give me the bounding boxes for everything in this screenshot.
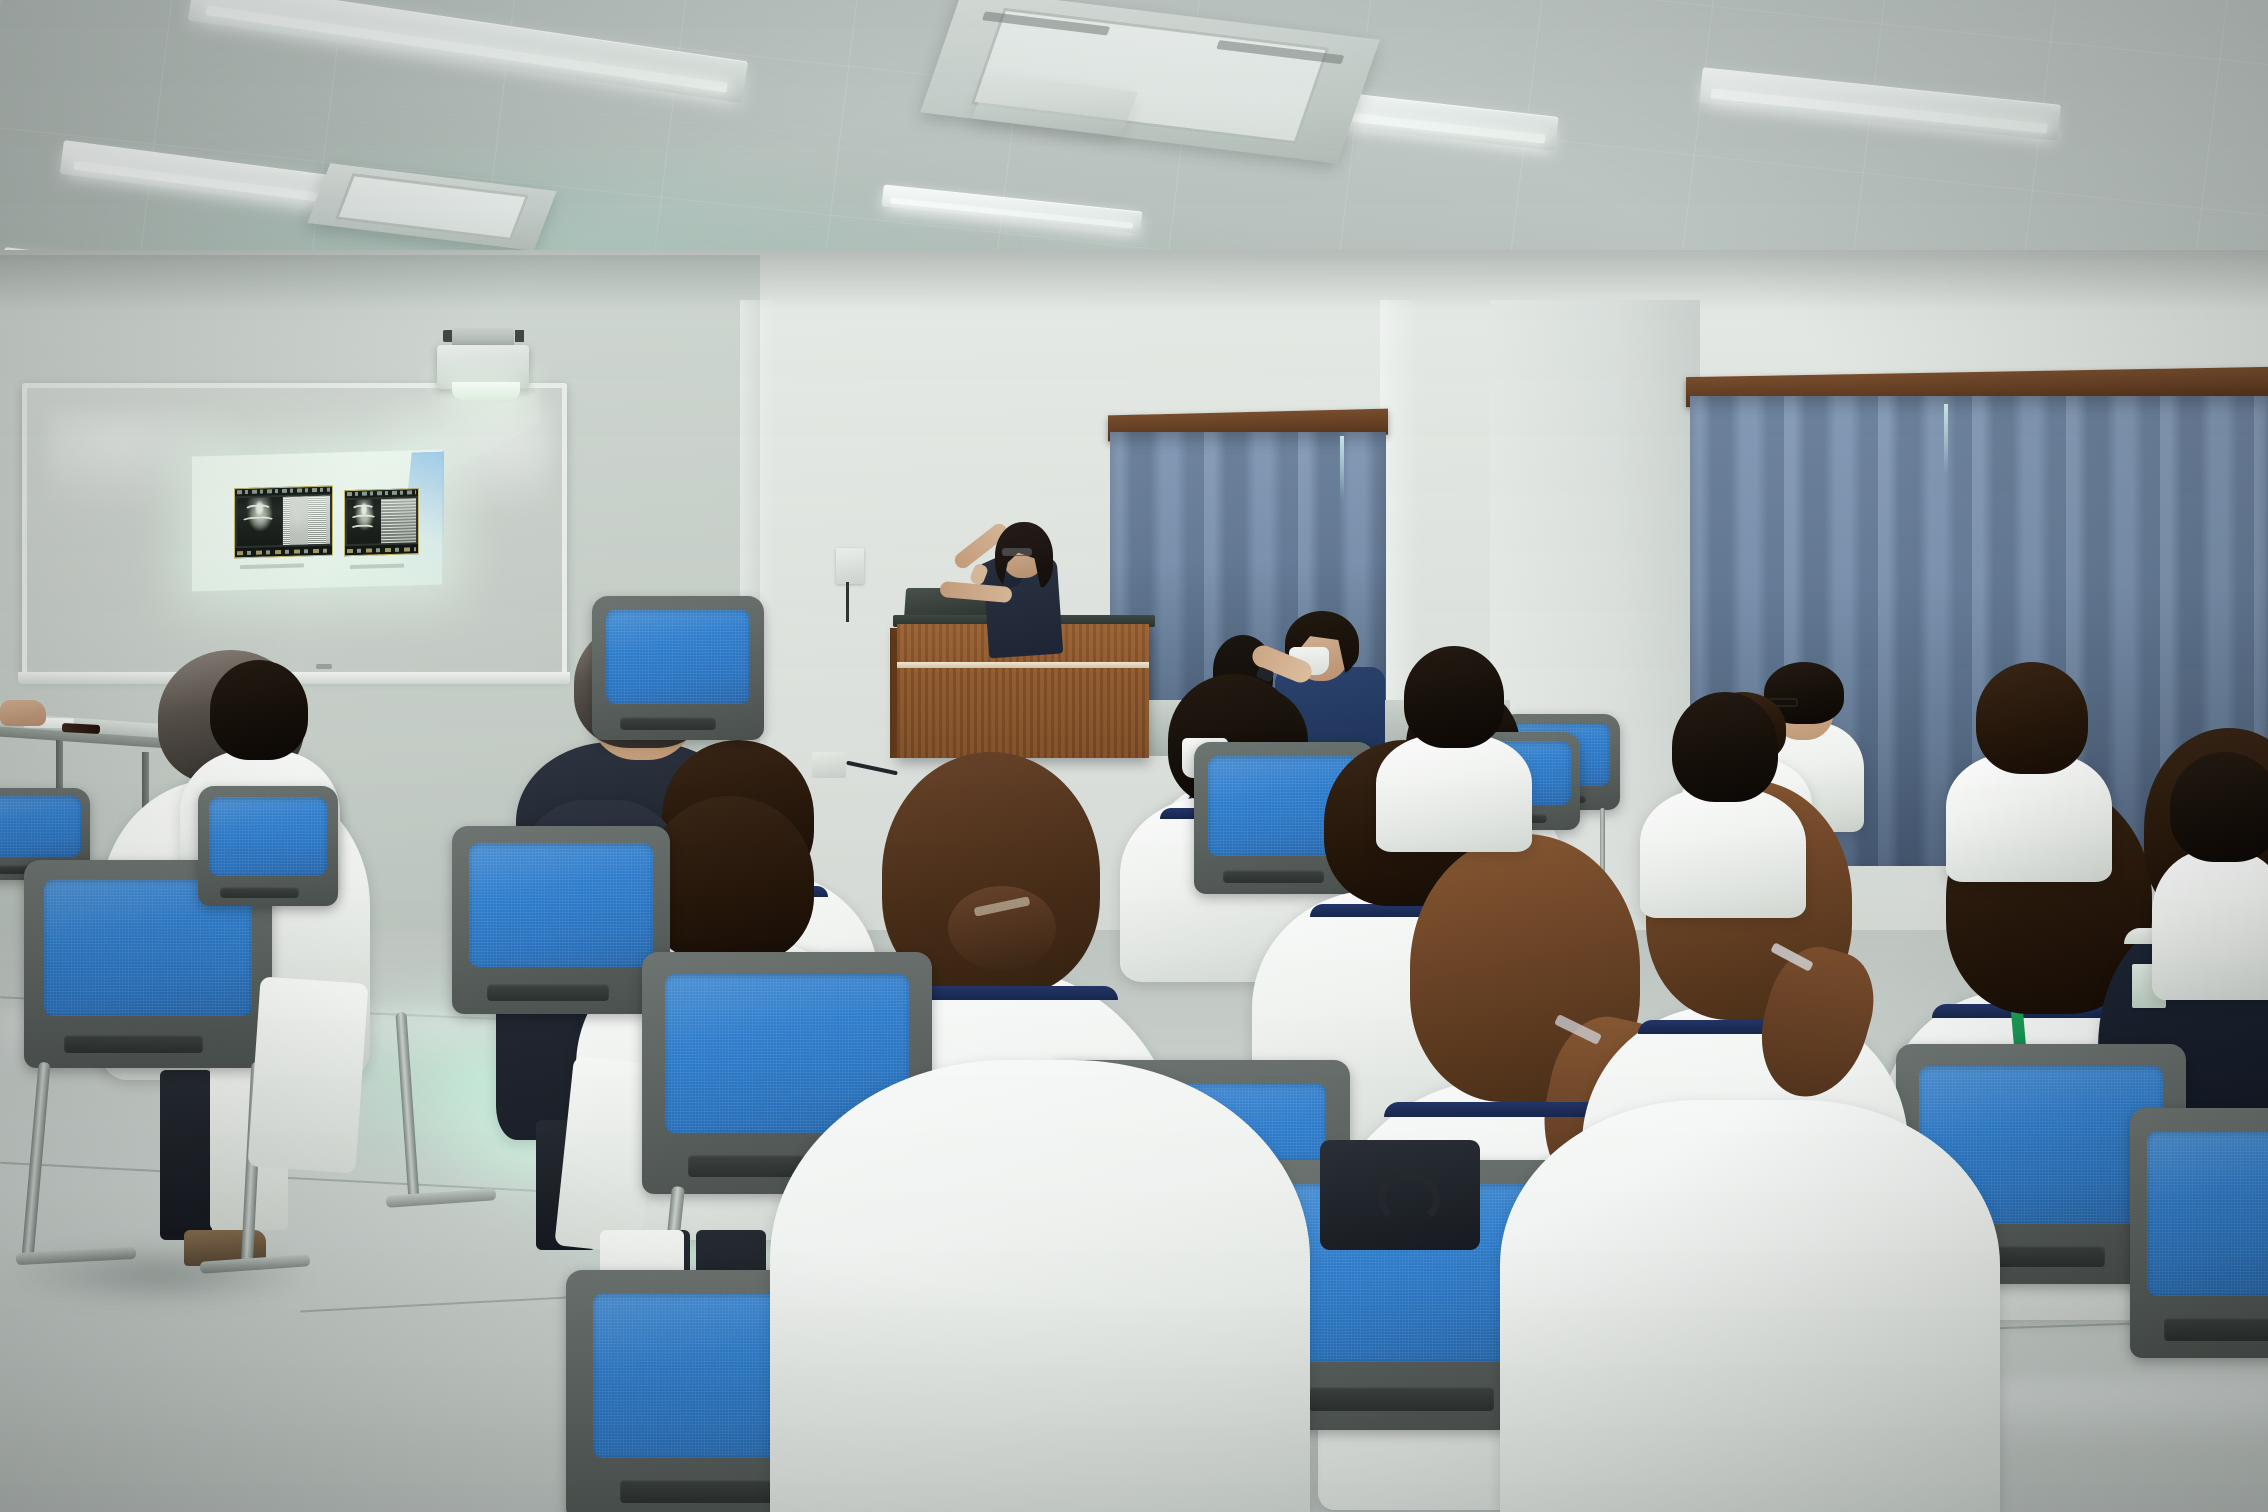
p-far-right-b: [2152, 730, 2268, 990]
leg: [160, 1070, 212, 1240]
p-bottom-right: [1500, 1060, 2020, 1512]
chair-carry-handle[interactable]: [2164, 1318, 2268, 1341]
chair-far-right-foreground[interactable]: [2130, 1108, 2268, 1358]
chair-shadow: [10, 1245, 310, 1305]
ultrasound-anatomy-arc: [351, 505, 375, 515]
chair-mesh-panel: [606, 609, 750, 704]
torso: [1376, 734, 1532, 852]
chair-carry-handle[interactable]: [220, 887, 298, 898]
chair-mesh-panel: [0, 796, 81, 857]
hair: [2170, 752, 2268, 862]
chair-carry-handle[interactable]: [620, 717, 716, 730]
ultrasound-anatomy-arc: [350, 514, 377, 524]
ultrasound-footer-text: [347, 547, 416, 553]
ultrasound-header-text: [237, 488, 330, 495]
ultrasound-mmode-image: [381, 498, 416, 543]
ultrasound-anatomy-arc: [350, 524, 375, 533]
chair-front-left-2[interactable]: [198, 786, 338, 906]
curtain-light-gap-right: [1944, 404, 1948, 504]
presenter: [940, 500, 1140, 660]
slide-caption-line: [240, 563, 304, 569]
p-back-row-a: [1640, 672, 1810, 912]
chair-carry-handle[interactable]: [1309, 1387, 1494, 1411]
hair: [210, 660, 308, 760]
p-far-right-a: [1946, 646, 2116, 876]
p-bottom-center: [770, 1000, 1330, 1512]
wall-outlet-plate: [836, 548, 864, 584]
slide-caption-line: [350, 564, 404, 570]
chair-row3-center[interactable]: [592, 596, 764, 740]
p-back-row-b: [1376, 630, 1536, 840]
ultrasound-bmode-image: [237, 497, 282, 546]
presenter-glasses: [1002, 548, 1032, 556]
curtain-light-gap-center: [1340, 436, 1344, 526]
hair: [1404, 646, 1504, 748]
chair-mesh-panel: [209, 797, 327, 876]
ultrasound-anatomy-arc: [241, 516, 275, 526]
hair-bun: [948, 886, 1056, 970]
ultrasound-header-bar: [345, 489, 418, 498]
seminar-room-photo: [0, 0, 2268, 1512]
chair-carry-handle[interactable]: [64, 1035, 203, 1054]
chair-mesh-panel: [2147, 1131, 2268, 1296]
hair: [646, 796, 814, 964]
handbag-strap: [1378, 1172, 1440, 1226]
projector-lens: [452, 382, 520, 400]
ultrasound-panel-left: [234, 486, 333, 559]
hair: [1976, 662, 2088, 774]
chair-carry-handle[interactable]: [487, 984, 609, 1001]
ultrasound-header-bar: [235, 487, 332, 497]
ultrasound-panel-right: [344, 488, 419, 556]
wall-ceiling-shadow: [0, 250, 2268, 310]
pen-on-table: [62, 723, 100, 734]
hair: [1672, 692, 1778, 802]
torso: [770, 1060, 1310, 1512]
projected-slide: [192, 450, 442, 592]
ultrasound-header-text: [347, 490, 416, 496]
torso: [1500, 1100, 2000, 1512]
chair-row3-left[interactable]: [452, 826, 670, 1014]
torso: [2152, 850, 2268, 1000]
ultrasound-anatomy-arc: [244, 504, 272, 517]
lectern-accent-stripe: [897, 662, 1149, 668]
attendee-hand: [0, 700, 46, 726]
wall-outlet-cord: [846, 582, 849, 622]
ultrasound-mmode-image: [283, 496, 330, 545]
projector-mount: [452, 328, 514, 346]
ultrasound-bmode-image: [347, 499, 381, 544]
torso: [1640, 788, 1806, 918]
chair-mesh-panel: [469, 843, 652, 967]
arm: [248, 976, 369, 1173]
ultrasound-footer-bar: [235, 546, 332, 558]
ultrasound-footer-text: [237, 549, 330, 556]
ultrasound-footer-bar: [345, 544, 418, 555]
